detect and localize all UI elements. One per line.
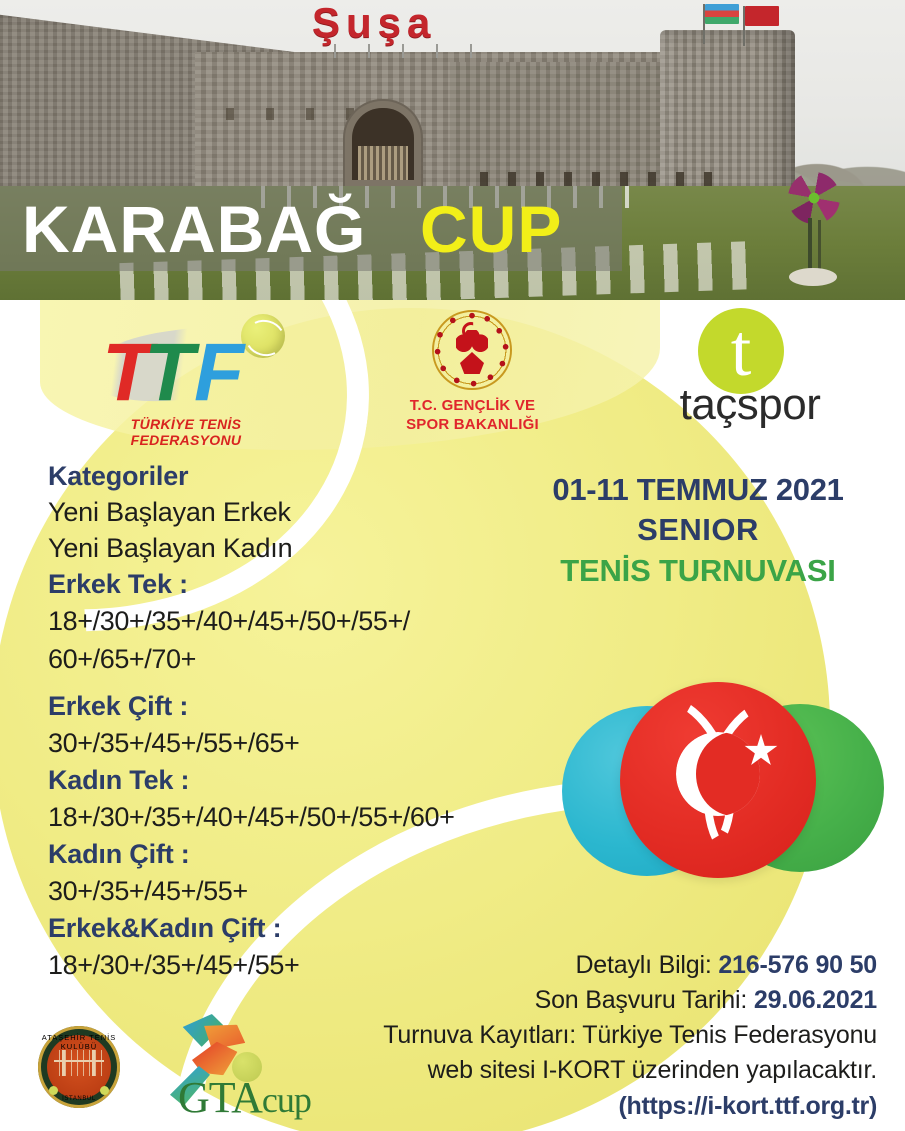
contact-phone-value: 216-576 90 50 [718,951,877,979]
contact-deadline-label: Son Başvuru Tarihi: [535,986,754,1014]
contact-deadline-value: 29.06.2021 [754,986,877,1014]
sponsor-logo-row: T T F TÜRKİYE TENİS FEDERASYONU T.C. GEN… [0,300,905,440]
turkey-flag-icon [745,6,779,26]
fortress-lower-windows [470,172,720,186]
category-label-mixed-doubles: Erkek&Kadın Çift : [48,910,528,946]
event-title-block: 01-11 TEMMUZ 2021 SENIOR TENİS TURNUVASI [523,470,873,592]
contact-information: Detaylı Bilgi: 216-576 90 50 Son Başvuru… [317,948,877,1124]
contact-deadline-line: Son Başvuru Tarihi: 29.06.2021 [317,983,877,1018]
club-badge-ring-bottom: İSTANBUL [38,1096,120,1102]
category-values-mens-doubles: 30+/35+/45+/55+/65+ [48,724,528,762]
event-dates: 01-11 TEMMUZ 2021 [523,470,873,510]
category-values-womens-doubles: 30+/35+/45+/55+ [48,872,528,910]
contact-phone-line: Detaylı Bilgi: 216-576 90 50 [317,948,877,983]
category-label-mens-singles: Erkek Tek : [48,566,528,602]
flower-base-stone [789,268,837,286]
ministry-logo-caption: T.C. GENÇLİK VE SPOR BAKANLIĞI [390,396,555,434]
crescent-icon [676,732,760,816]
ministry-caption-line2: SPOR BAKANLIĞI [390,415,555,434]
ttf-tennis-ball-icon [241,314,285,358]
categories-column: Kategoriler Yeni Başlayan Erkek Yeni Baş… [48,458,528,984]
tennis-balls-graphic [548,682,888,882]
contact-phone-label: Detaylı Bilgi: [575,951,718,979]
bottom-sponsor-logos: ATAŞEHİR TENİS KULÜBÜ İSTANBUL GTAcup [28,1012,358,1127]
spacer [48,678,528,688]
event-level: SENIOR [523,510,873,550]
pinwheel-flower-sculpture [788,172,840,224]
gtacup-logo: GTAcup [158,1012,358,1124]
club-badge-ring-top: ATAŞEHİR TENİS KULÜBÜ [38,1033,120,1051]
banner-title-karabag: KARABAĞ [22,192,366,266]
banner-title-cup: CUP [420,192,562,266]
ttf-letter-t2: T [144,336,194,410]
gtacup-wordmark-light: cup [262,1080,311,1120]
category-beginner-women: Yeni Başlayan Kadın [48,530,528,566]
tennis-ball-red-turkish [620,682,816,878]
category-values-womens-singles: 18+/30+/35+/40+/45+/50+/55+/60+ [48,798,528,836]
registration-line-2: web sitesi I-KORT üzerinden yapılacaktır… [317,1053,877,1088]
registration-url[interactable]: (https://i-kort.ttf.org.tr) [317,1088,877,1124]
poster-body: T T F TÜRKİYE TENİS FEDERASYONU T.C. GEN… [0,300,905,1131]
club-badge-ball-right [100,1086,109,1095]
fortress-gate-bars [358,146,408,180]
ministry-caption-line1: T.C. GENÇLİK VE [390,396,555,415]
category-label-womens-singles: Kadın Tek : [48,762,528,798]
tacspor-logo: t taçspor [650,308,850,440]
registration-line-1: Turnuva Kayıtları: Türkiye Tenis Federas… [317,1018,877,1053]
bridge-icon [54,1050,104,1076]
sign-support-posts [318,44,478,58]
category-values-mens-singles-line2: 60+/65+/70+ [48,640,528,678]
tacspor-wordmark: taçspor [650,380,850,430]
azerbaijan-flag-icon [705,4,739,24]
fortress-photo-header: Şuşa KARABAĞ CUP [0,0,905,300]
club-badge-ball-left [49,1086,58,1095]
flower-stem-secondary [818,220,821,274]
categories-title: Kategoriler [48,458,528,494]
event-type: TENİS TURNUVASI [523,550,873,592]
category-values-mens-singles-line1: 18+/30+/35+/40+/45+/50+/55+/ [48,602,528,640]
ttf-logo: T T F TÜRKİYE TENİS FEDERASYONU [78,312,293,440]
category-label-womens-doubles: Kadın Çift : [48,836,528,872]
category-beginner-men: Yeni Başlayan Erkek [48,494,528,530]
susa-sign-text: Şuşa [312,2,436,44]
tournament-poster: Şuşa KARABAĞ CUP T T F TÜRKİYE TENİS FED… [0,0,905,1131]
ministry-logo: T.C. GENÇLİK VE SPOR BAKANLIĞI [390,310,555,440]
category-label-mens-doubles: Erkek Çift : [48,688,528,724]
ttf-logo-caption: TÜRKİYE TENİS FEDERASYONU [76,416,296,448]
gtacup-wordmark-bold: GTA [178,1073,262,1122]
atasehir-tennis-club-badge: ATAŞEHİR TENİS KULÜBÜ İSTANBUL [38,1026,120,1108]
flower-stem [808,218,812,274]
ttf-letter-f: F [194,336,244,410]
gtacup-wordmark: GTAcup [178,1074,368,1124]
